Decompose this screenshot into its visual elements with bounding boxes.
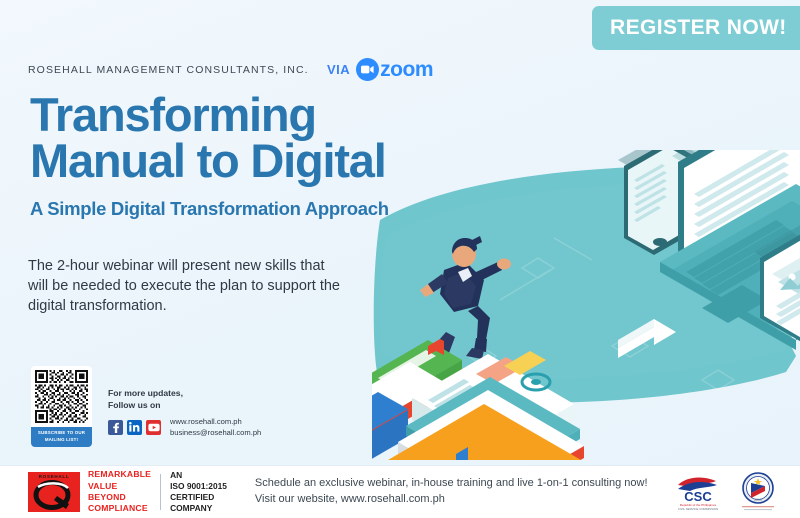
digital-transformation-illustration: C-Language: [372, 150, 800, 460]
schedule-line-1: Schedule an exclusive webinar, in-house …: [255, 476, 648, 492]
iso-line-3: CERTIFIED: [170, 492, 227, 503]
footer-divider: [160, 474, 161, 510]
csc-wordmark: CSC: [684, 489, 712, 504]
government-logos: CSC Republic of the Philippines CIVIL SE…: [672, 471, 778, 513]
social-block: For more updates, Follow us on www.roseh…: [108, 388, 261, 438]
social-row: www.rosehall.com.ph business@rosehall.co…: [108, 416, 261, 438]
page-title: Transforming Manual to Digital: [30, 92, 470, 184]
social-heading-line-1: For more updates,: [108, 388, 261, 400]
social-heading-line-2: Follow us on: [108, 400, 261, 412]
contact-info: www.rosehall.com.ph business@rosehall.co…: [170, 416, 261, 438]
title-line-2: Manual to Digital: [30, 138, 470, 184]
seal-year: 2019: [754, 498, 762, 502]
webinar-description: The 2-hour webinar will present new skil…: [28, 256, 348, 316]
tagline-line-1: REMARKABLE: [88, 469, 151, 480]
webinar-banner: C-Language: [0, 0, 800, 518]
video-camera-icon: [356, 58, 379, 81]
iso-line-1: AN: [170, 470, 227, 481]
qr-caption: SUBSCRIBE TO OUR MAILING LIST!: [31, 427, 92, 447]
schedule-text: Schedule an exclusive webinar, in-house …: [255, 476, 648, 508]
qr-code-image: [35, 370, 88, 423]
tagline-line-3: BEYOND: [88, 492, 151, 503]
register-now-button[interactable]: REGISTER NOW!: [592, 6, 800, 50]
company-name: ROSEHALL MANAGEMENT CONSULTANTS, INC.: [28, 64, 309, 76]
tagline-line-4: COMPLIANCE: [88, 503, 151, 514]
youtube-icon[interactable]: [146, 420, 161, 435]
facebook-icon[interactable]: [108, 420, 123, 435]
register-now-label: REGISTER NOW!: [610, 16, 787, 40]
tagline-line-2: VALUE: [88, 481, 151, 492]
csc-logo: CSC Republic of the Philippines CIVIL SE…: [672, 472, 724, 512]
qr-caption-line-1: SUBSCRIBE TO OUR: [32, 430, 91, 437]
csc-sub-2: CIVIL SERVICE COMMISSION: [678, 507, 718, 511]
rosehall-logo: ROSEHALL: [28, 472, 80, 512]
qr-card: [31, 366, 92, 427]
schedule-line-2: Visit our website, www.rosehall.com.ph: [255, 492, 648, 508]
website-link[interactable]: www.rosehall.com.ph: [170, 416, 261, 427]
social-heading: For more updates, Follow us on: [108, 388, 261, 411]
iso-line-4: COMPANY: [170, 503, 227, 514]
qr-caption-line-2: MAILING LIST!: [32, 437, 91, 444]
qr-code-block[interactable]: SUBSCRIBE TO OUR MAILING LIST!: [31, 366, 92, 447]
title-line-1: Transforming: [30, 88, 316, 141]
footer-bar: ROSEHALL REMARKABLE VALUE BEYOND COMPLIA…: [0, 465, 800, 518]
rosehall-tagline: REMARKABLE VALUE BEYOND COMPLIANCE: [88, 469, 151, 514]
zoom-logo: zoom: [356, 58, 433, 81]
zoom-wordmark: zoom: [380, 59, 433, 80]
via-zoom-badge: VIA zoom: [327, 58, 433, 81]
page-subtitle: A Simple Digital Transformation Approach: [30, 198, 389, 220]
philippine-seal-logo: 2019: [738, 471, 778, 513]
linkedin-icon[interactable]: [127, 420, 142, 435]
iso-certification: AN ISO 9001:2015 CERTIFIED COMPANY: [170, 470, 227, 514]
iso-line-2: ISO 9001:2015: [170, 481, 227, 492]
email-link[interactable]: business@rosehall.com.ph: [170, 427, 261, 438]
via-label: VIA: [327, 62, 350, 77]
